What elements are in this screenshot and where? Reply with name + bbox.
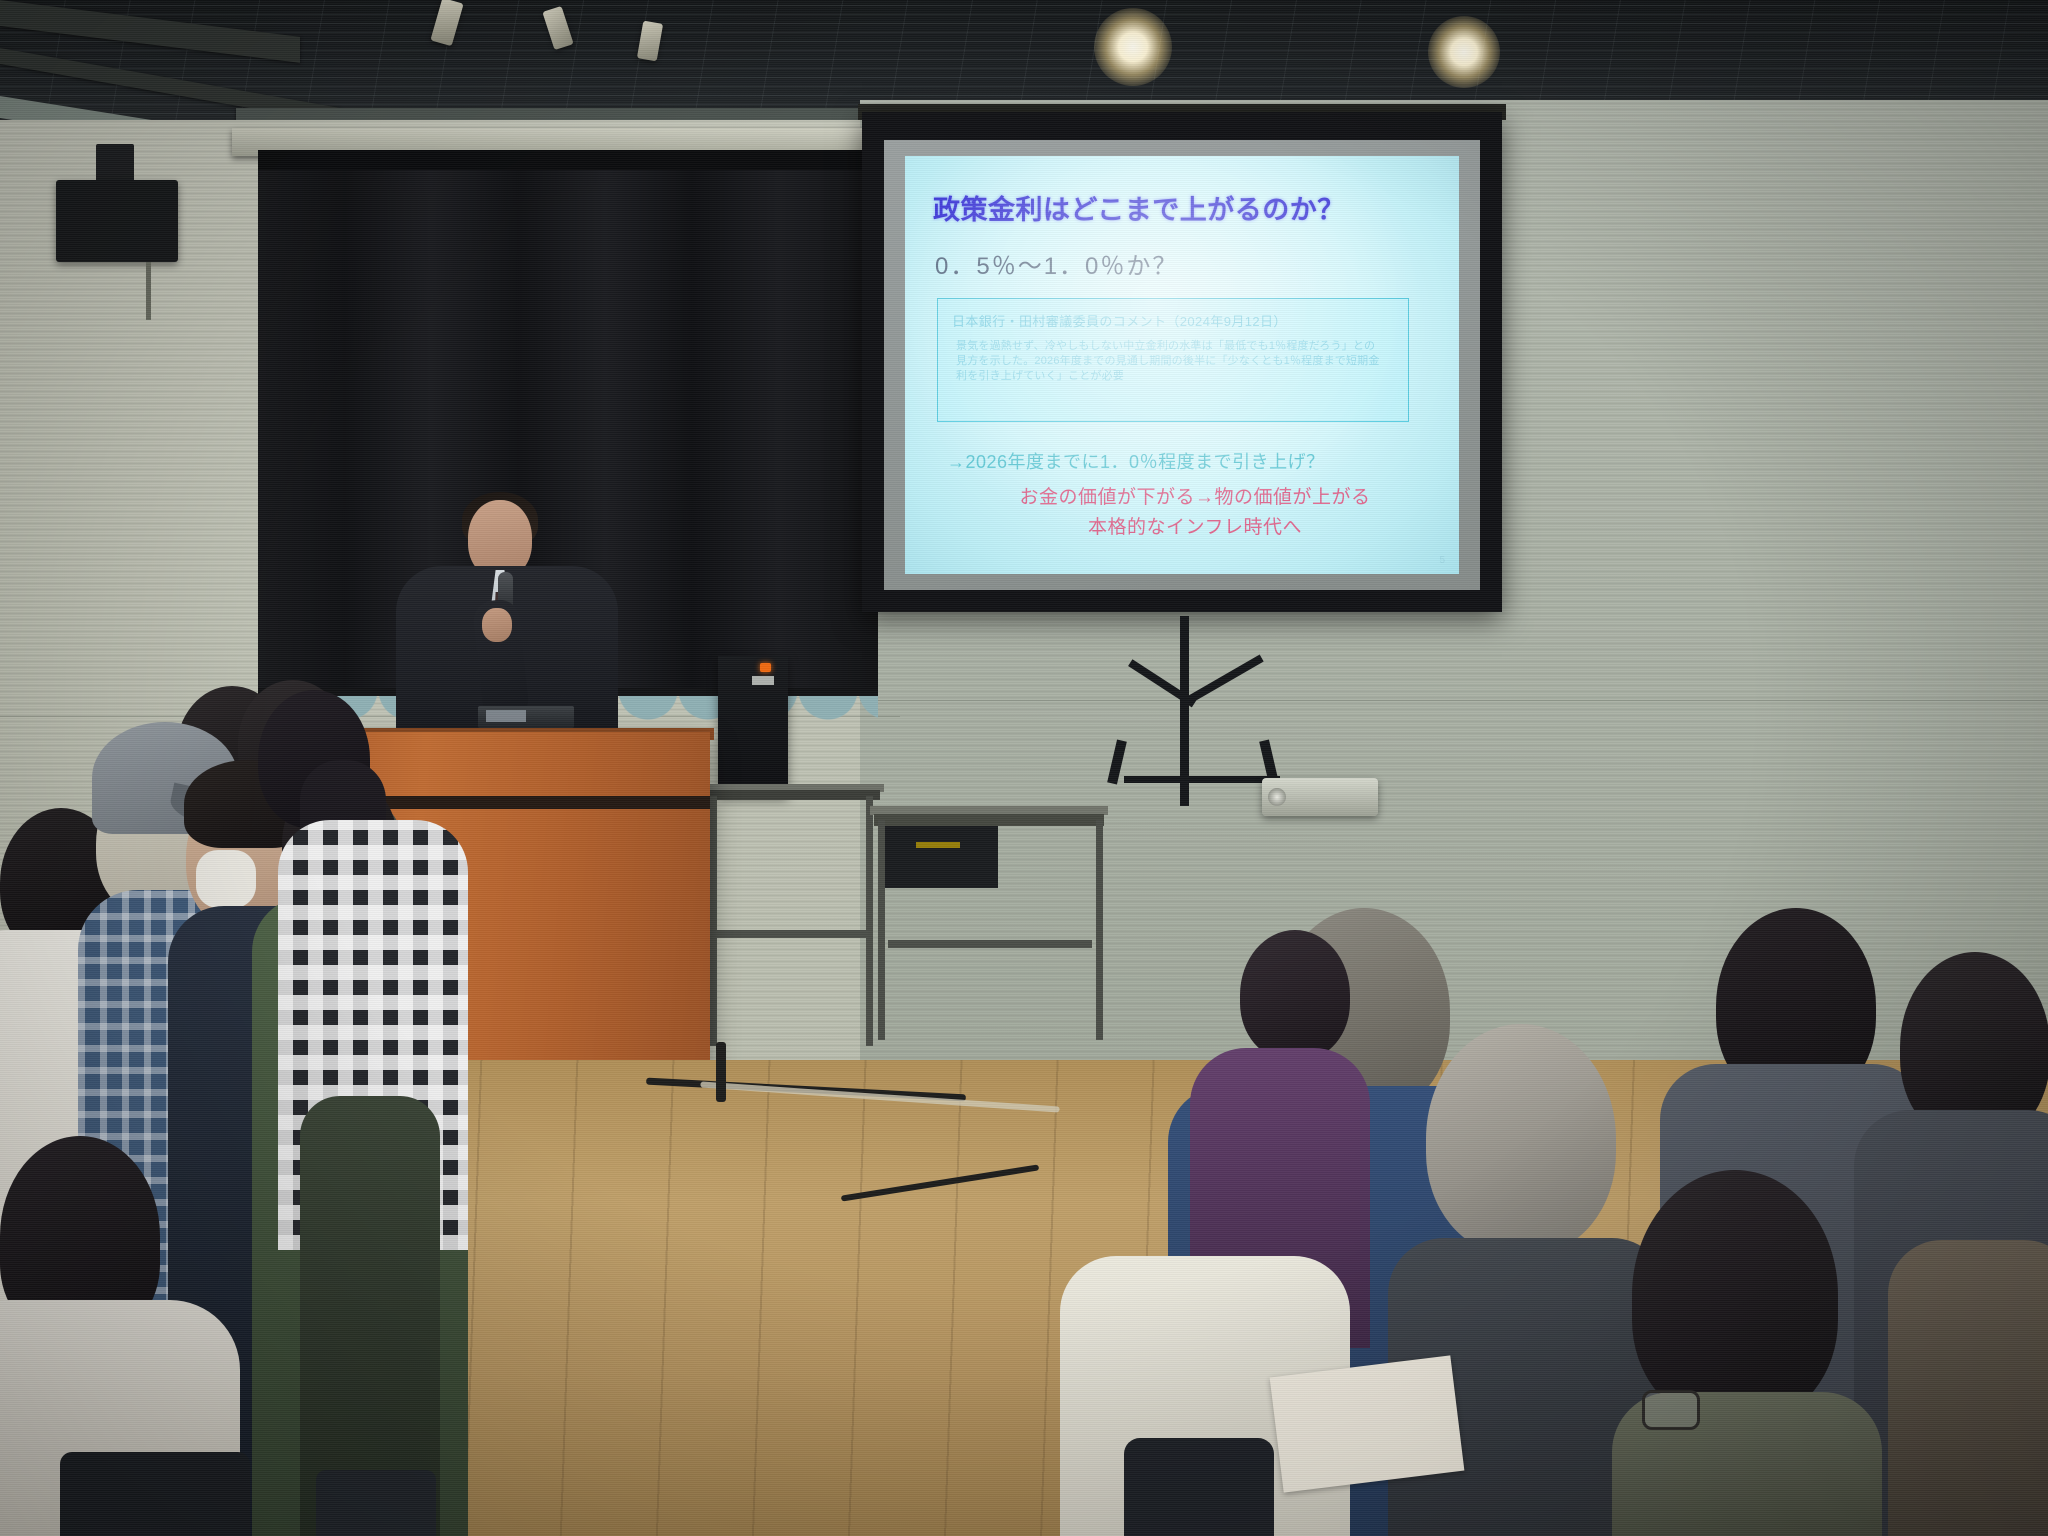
tripod-crossbar <box>1124 776 1280 783</box>
slide-page-number: 5 <box>1439 555 1445 566</box>
projector-lens-icon <box>1268 788 1286 806</box>
equipment-table-2 <box>874 814 1104 826</box>
equipment-table-1 <box>704 790 880 800</box>
table-2-leg-right <box>1096 820 1103 1040</box>
downlight-1-icon <box>1094 8 1172 86</box>
table-1-shelf <box>716 930 868 938</box>
attendee-corner-right-torso <box>1888 1240 2048 1536</box>
slide-emphasis-line-2: 本格的なインフレ時代へ <box>965 512 1425 539</box>
callout-body: 景気を過熱せず、冷やしもしない中立金利の水準は「最低でも1％程度だろう」との見方… <box>956 339 1386 384</box>
seminar-hall-photo: 政策金利はどこまで上がるのか？ 0．5％～1．0％か？ 日本銀行・田村審議委員の… <box>0 0 2048 1536</box>
table-2-shelf <box>888 940 1092 948</box>
laptop-screen <box>486 710 526 722</box>
presenter-hand <box>482 608 512 642</box>
slide-conclusion-arrow: →2026年度までに1．0％程度まで引き上げ？ <box>947 448 1427 474</box>
amplifier-slot <box>752 676 774 685</box>
attendee-purple-top-head <box>1240 930 1350 1060</box>
slide-callout-box: 日本銀行・田村審議委員のコメント（2024年9月12日） 景気を過熱せず、冷やし… <box>937 298 1409 422</box>
wall-seam-1 <box>860 700 2048 701</box>
chair-back-2 <box>316 1470 436 1536</box>
amplifier-power-led-icon <box>760 663 771 672</box>
wall-pole <box>146 262 151 320</box>
slide-subtitle: 0．5％～1．0％か？ <box>935 246 1435 281</box>
pa-speaker-icon <box>56 180 178 262</box>
chair-back-1 <box>60 1452 250 1536</box>
rack-equipment <box>882 826 998 888</box>
table-2-leg-left <box>878 820 885 1040</box>
attendee-glasses-front-head <box>1632 1170 1838 1420</box>
presentation-slide: 政策金利はどこまで上がるのか？ 0．5％～1．0％か？ 日本銀行・田村審議委員の… <box>905 156 1459 574</box>
table-1-leg-left <box>710 796 717 1046</box>
attendee-bag <box>1124 1438 1274 1536</box>
eyeglasses-icon <box>1642 1390 1700 1430</box>
rack-display-icon <box>916 842 960 848</box>
handout-paper <box>1270 1355 1465 1492</box>
downlight-2-icon <box>1428 16 1500 88</box>
equipment-power-cord <box>716 1042 726 1102</box>
slide-emphasis-line-1: お金の価値が下がる→物の価値が上がる <box>965 482 1425 509</box>
slide-title: 政策金利はどこまで上がるのか？ <box>933 188 1453 227</box>
pa-speaker-bracket <box>96 144 134 184</box>
table-1-leg-right <box>866 796 873 1046</box>
podium-trim-band <box>338 796 710 809</box>
face-mask-icon <box>196 850 256 908</box>
callout-heading: 日本銀行・田村審議委員のコメント（2024年9月12日） <box>952 311 1392 330</box>
attendee-grey-bob-head <box>1426 1024 1616 1254</box>
